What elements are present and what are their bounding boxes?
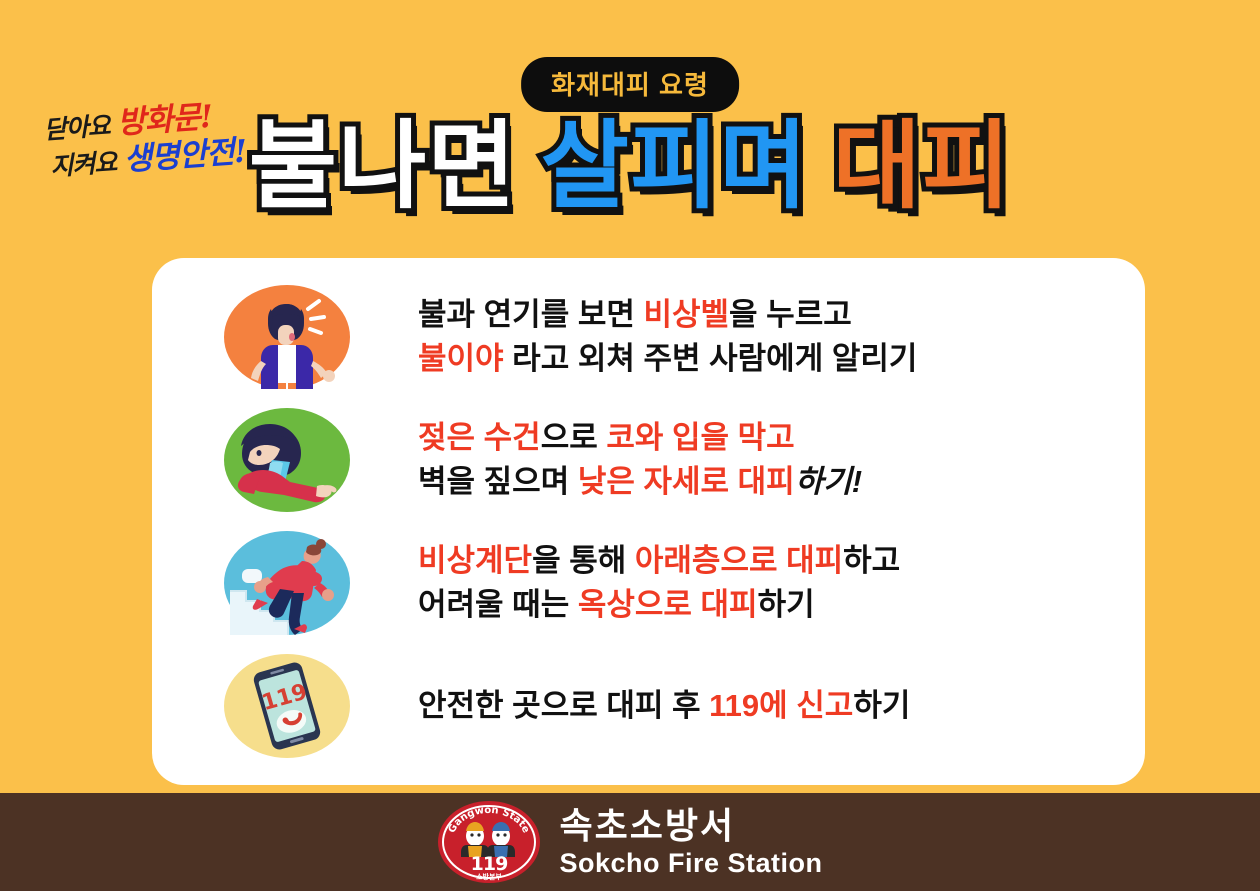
text-segment: 하고 [843, 543, 900, 578]
step-1-line-2: 불이야 라고 외쳐 주변 사람에게 알리기 [418, 337, 917, 381]
list-item: 119 안전한 곳으로 대피 후 119에 신고하기 [152, 646, 1145, 766]
station-name-ko: 속초소방서 [559, 808, 822, 844]
page-title: 불나면살피며대피 [0, 112, 1260, 222]
list-item: 비상계단을 통해 아래층으로 대피하고 어려울 때는 옥상으로 대피하기 [152, 523, 1145, 643]
text-segment: 불이야 [418, 341, 504, 376]
text-segment: 하기! [795, 464, 862, 499]
step-3-line-1: 비상계단을 통해 아래층으로 대피하고 [418, 539, 900, 583]
step-4-line-1: 안전한 곳으로 대피 후 119에 신고하기 [418, 684, 910, 728]
steps-list: 불과 연기를 보면 비상벨을 누르고 불이야 라고 외쳐 주변 사람에게 알리기 [152, 258, 1145, 785]
text-segment: 아래층으로 대피 [635, 543, 843, 578]
text-segment: 을 누르고 [729, 297, 852, 332]
step-2-line-1: 젖은 수건으로 코와 입을 막고 [418, 416, 862, 460]
text-segment: 하기 [853, 688, 910, 723]
text-segment: 을 통해 [532, 543, 635, 578]
headline-word-3: 대피 [833, 112, 1012, 222]
text-segment: 하기 [758, 587, 815, 622]
person-crouching-wet-towel-icon [224, 408, 350, 512]
emblem-sub-text: 소방본부 [477, 872, 503, 881]
smartphone-call-119-icon: 119 [224, 654, 350, 758]
text-segment: 으로 [541, 420, 607, 455]
emblem-number: 119 [471, 853, 508, 875]
text-segment: 벽을 짚으며 [418, 464, 578, 499]
text-segment: 비상벨 [643, 297, 729, 332]
text-segment: 젖은 수건 [418, 420, 541, 455]
instructions-card: 불과 연기를 보면 비상벨을 누르고 불이야 라고 외쳐 주변 사람에게 알리기 [152, 258, 1145, 785]
list-item: 젖은 수건으로 코와 입을 막고 벽을 짚으며 낮은 자세로 대피하기! [152, 400, 1145, 520]
text-segment: 옥상으로 대피 [578, 587, 758, 622]
step-text-4: 안전한 곳으로 대피 후 119에 신고하기 [418, 684, 910, 728]
text-segment: 낮은 자세로 대피 [578, 464, 795, 499]
poster-root: 닫아요 방화문! 지켜요 생명안전! 화재대피 요령 불나면살피며대피 [0, 0, 1260, 891]
text-segment: 라고 외쳐 주변 사람에게 알리기 [504, 341, 918, 376]
step-text-3: 비상계단을 통해 아래층으로 대피하고 어려울 때는 옥상으로 대피하기 [418, 539, 900, 627]
list-item: 불과 연기를 보면 비상벨을 누르고 불이야 라고 외쳐 주변 사람에게 알리기 [152, 277, 1145, 397]
text-segment: 불과 연기를 보면 [418, 297, 643, 332]
step-text-1: 불과 연기를 보면 비상벨을 누르고 불이야 라고 외쳐 주변 사람에게 알리기 [418, 293, 917, 381]
text-segment: 119에 신고 [709, 688, 853, 723]
text-segment: 안전한 곳으로 대피 후 [418, 688, 709, 723]
text-segment: 어려울 때는 [418, 587, 578, 622]
step-3-line-2: 어려울 때는 옥상으로 대피하기 [418, 583, 900, 627]
headline-word-2: 살피며 [541, 112, 809, 222]
step-text-2: 젖은 수건으로 코와 입을 막고 벽을 짚으며 낮은 자세로 대피하기! [418, 416, 862, 504]
footer-bar: Gangwon State 1 [0, 793, 1260, 891]
footer-station-names: 속초소방서 Sokcho Fire Station [559, 808, 822, 877]
title-badge: 화재대피 요령 [521, 57, 739, 112]
station-name-en: Sokcho Fire Station [559, 850, 822, 877]
person-running-stairs-icon [224, 531, 350, 635]
text-segment: 코와 입을 막고 [606, 420, 794, 455]
gangwon-119-fire-emblem-icon: Gangwon State 1 [437, 800, 541, 884]
headline-word-1: 불나면 [249, 112, 517, 222]
person-shouting-alarm-icon [224, 285, 350, 389]
step-1-line-1: 불과 연기를 보면 비상벨을 누르고 [418, 293, 917, 337]
text-segment: 비상계단 [418, 543, 532, 578]
step-2-line-2: 벽을 짚으며 낮은 자세로 대피하기! [418, 460, 862, 504]
